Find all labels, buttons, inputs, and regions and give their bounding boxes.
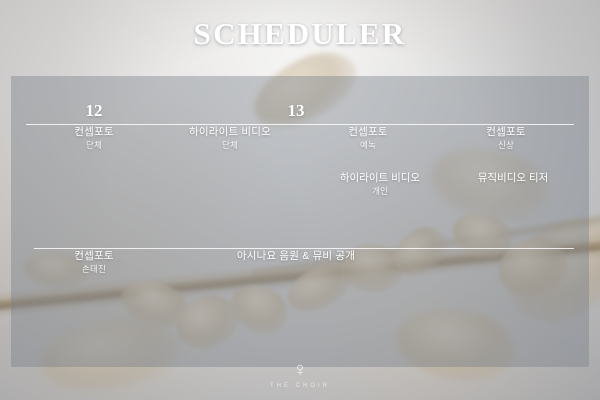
schedule-day-13[interactable]: 13 아시나요 음원 & 뮤비 공개 [196,124,396,248]
day-event-subtitle: 손태진 [26,263,162,275]
logo-text: THE CHOIR [0,383,600,389]
schedule-extra-event-2[interactable]: 뮤직비디오 티저 [438,172,588,185]
brand-logo: ♀ THE CHOIR [0,360,600,389]
day-event-title: 아시나요 음원 & 뮤비 공개 [196,250,396,263]
day-number: 12 [26,101,162,120]
logo-mark-icon: ♀ [293,360,308,380]
day-number: 13 [196,101,396,120]
day-event-title: 컨셉포토 [438,126,574,139]
row-divider [34,248,574,249]
poster-canvas: SCHEDULER 8 컨셉포토 단체 9 하이라이트 비디오 단체 10 컨셉… [0,0,600,400]
schedule-day-12[interactable]: 12 컨셉포토 손태진 [26,124,162,248]
day-event-subtitle: 신상 [438,139,574,151]
schedule-row-2 [26,248,574,249]
extra-event-title: 뮤직비디오 티저 [438,172,588,185]
day-event-title: 컨셉포토 [26,250,162,263]
schedule-day-11[interactable]: 11 컨셉포토 신상 [438,0,574,124]
